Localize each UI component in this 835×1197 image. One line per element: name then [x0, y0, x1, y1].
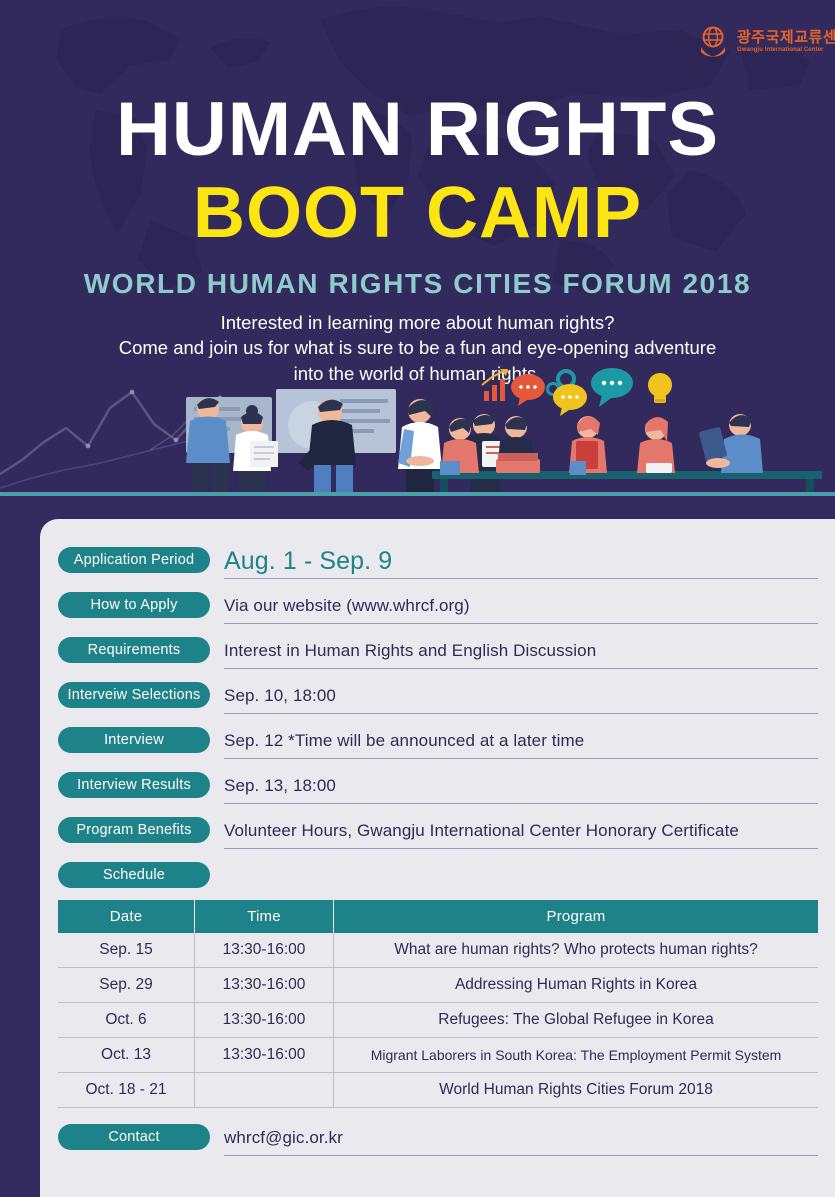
- table-row: Sep. 15 13:30-16:00 What are human right…: [58, 933, 818, 968]
- speech-bubble-yellow-icon: [553, 384, 587, 416]
- detail-row-requirements: Requirements Interest in Human Rights an…: [58, 634, 818, 679]
- poster-title-line2: BOOT CAMP: [0, 177, 835, 249]
- poster-subtitle: WORLD HUMAN RIGHTS CITIES FORUM 2018: [0, 268, 835, 300]
- detail-rows: Application Period Aug. 1 - Sep. 9 How t…: [58, 544, 818, 904]
- label-application-period: Application Period: [58, 547, 210, 573]
- table-row: Oct. 13 13:30-16:00 Migrant Laborers in …: [58, 1038, 818, 1073]
- value-wrap-requirements: Interest in Human Rights and English Dis…: [224, 634, 818, 669]
- people-illustration: [0, 367, 835, 497]
- label-requirements: Requirements: [58, 637, 210, 663]
- cell-date: Sep. 15: [58, 933, 195, 968]
- schedule-header-program: Program: [334, 900, 819, 933]
- value-interview-selections: Sep. 10, 18:00: [224, 686, 336, 706]
- label-interview-results: Interview Results: [58, 772, 210, 798]
- table-row: Oct. 6 13:30-16:00 Refugees: The Global …: [58, 1003, 818, 1038]
- globe-hands-logo-icon: [698, 25, 732, 57]
- cell-program: Migrant Laborers in South Korea: The Emp…: [334, 1038, 819, 1073]
- cell-time: 13:30-16:00: [195, 1038, 334, 1073]
- blurb-line-2: Come and join us for what is sure to be …: [0, 335, 835, 360]
- value-interview-results: Sep. 13, 18:00: [224, 776, 336, 796]
- poster-title-line1: HUMAN RIGHTS: [0, 92, 835, 168]
- value-wrap-interview-results: Sep. 13, 18:00: [224, 769, 818, 804]
- poster-header: 광주국제교류센터 Gwangju International Center HU…: [0, 0, 835, 497]
- cell-program: Refugees: The Global Refugee in Korea: [334, 1003, 819, 1038]
- cell-program: What are human rights? Who protects huma…: [334, 933, 819, 968]
- detail-row-interview: Interview Sep. 12 *Time will be announce…: [58, 724, 818, 769]
- header-divider-rule: [0, 492, 835, 496]
- value-contact-email: whrcf@gic.or.kr: [224, 1128, 343, 1148]
- label-schedule: Schedule: [58, 862, 210, 888]
- cell-date: Oct. 13: [58, 1038, 195, 1073]
- value-wrap-how-to-apply: Via our website (www.whrcf.org): [224, 589, 818, 624]
- label-program-benefits: Program Benefits: [58, 817, 210, 843]
- cell-time: 13:30-16:00: [195, 1003, 334, 1038]
- lightbulb-icon: [648, 373, 672, 403]
- value-wrap-program-benefits: Volunteer Hours, Gwangju International C…: [224, 814, 818, 849]
- value-requirements: Interest in Human Rights and English Dis…: [224, 641, 596, 661]
- cell-time: 13:30-16:00: [195, 968, 334, 1003]
- schedule-header-row: Date Time Program: [58, 900, 818, 933]
- table-row: Oct. 18 - 21 World Human Rights Cities F…: [58, 1073, 818, 1108]
- bar-chart-icon: [482, 369, 508, 401]
- detail-row-schedule: Schedule: [58, 859, 818, 904]
- value-how-to-apply: Via our website (www.whrcf.org): [224, 596, 470, 616]
- value-program-benefits: Volunteer Hours, Gwangju International C…: [224, 821, 739, 841]
- detail-row-interview-results: Interview Results Sep. 13, 18:00: [58, 769, 818, 814]
- label-interview-selections: Interveiw Selections: [58, 682, 210, 708]
- cell-date: Sep. 29: [58, 968, 195, 1003]
- value-wrap-interview-selections: Sep. 10, 18:00: [224, 679, 818, 714]
- table-row: Sep. 29 13:30-16:00 Addressing Human Rig…: [58, 968, 818, 1003]
- cell-time: [195, 1073, 334, 1108]
- cell-date: Oct. 18 - 21: [58, 1073, 195, 1108]
- value-wrap-schedule: [224, 859, 818, 893]
- logo-text-korean: 광주국제교류센터: [737, 30, 835, 45]
- blurb-line-1: Interested in learning more about human …: [0, 310, 835, 335]
- schedule-header-date: Date: [58, 900, 195, 933]
- speech-bubble-teal-icon: [591, 368, 633, 407]
- logo-text-english: Gwangju International Center: [737, 47, 835, 53]
- detail-row-contact: Contact whrcf@gic.or.kr: [58, 1121, 818, 1156]
- value-application-period: Aug. 1 - Sep. 9: [224, 547, 392, 576]
- cell-program: Addressing Human Rights in Korea: [334, 968, 819, 1003]
- value-wrap-application-period: Aug. 1 - Sep. 9: [224, 544, 818, 579]
- schedule-header-time: Time: [195, 900, 334, 933]
- cell-date: Oct. 6: [58, 1003, 195, 1038]
- schedule-table: Date Time Program Sep. 15 13:30-16:00 Wh…: [58, 900, 818, 1108]
- detail-row-program-benefits: Program Benefits Volunteer Hours, Gwangj…: [58, 814, 818, 859]
- value-interview: Sep. 12 *Time will be announced at a lat…: [224, 731, 584, 751]
- label-how-to-apply: How to Apply: [58, 592, 210, 618]
- detail-row-how-to-apply: How to Apply Via our website (www.whrcf.…: [58, 589, 818, 634]
- info-card: Application Period Aug. 1 - Sep. 9 How t…: [40, 519, 835, 1197]
- speech-bubble-orange-icon: [511, 374, 545, 406]
- cell-time: 13:30-16:00: [195, 933, 334, 968]
- value-wrap-interview: Sep. 12 *Time will be announced at a lat…: [224, 724, 818, 759]
- label-contact: Contact: [58, 1124, 210, 1150]
- label-interview: Interview: [58, 727, 210, 753]
- cell-program: World Human Rights Cities Forum 2018: [334, 1073, 819, 1108]
- gic-logo: 광주국제교류센터 Gwangju International Center: [698, 20, 820, 62]
- value-wrap-contact: whrcf@gic.or.kr: [224, 1121, 818, 1156]
- detail-row-interview-selections: Interveiw Selections Sep. 10, 18:00: [58, 679, 818, 724]
- detail-row-application-period: Application Period Aug. 1 - Sep. 9: [58, 544, 818, 589]
- poster: 광주국제교류센터 Gwangju International Center HU…: [0, 0, 835, 1197]
